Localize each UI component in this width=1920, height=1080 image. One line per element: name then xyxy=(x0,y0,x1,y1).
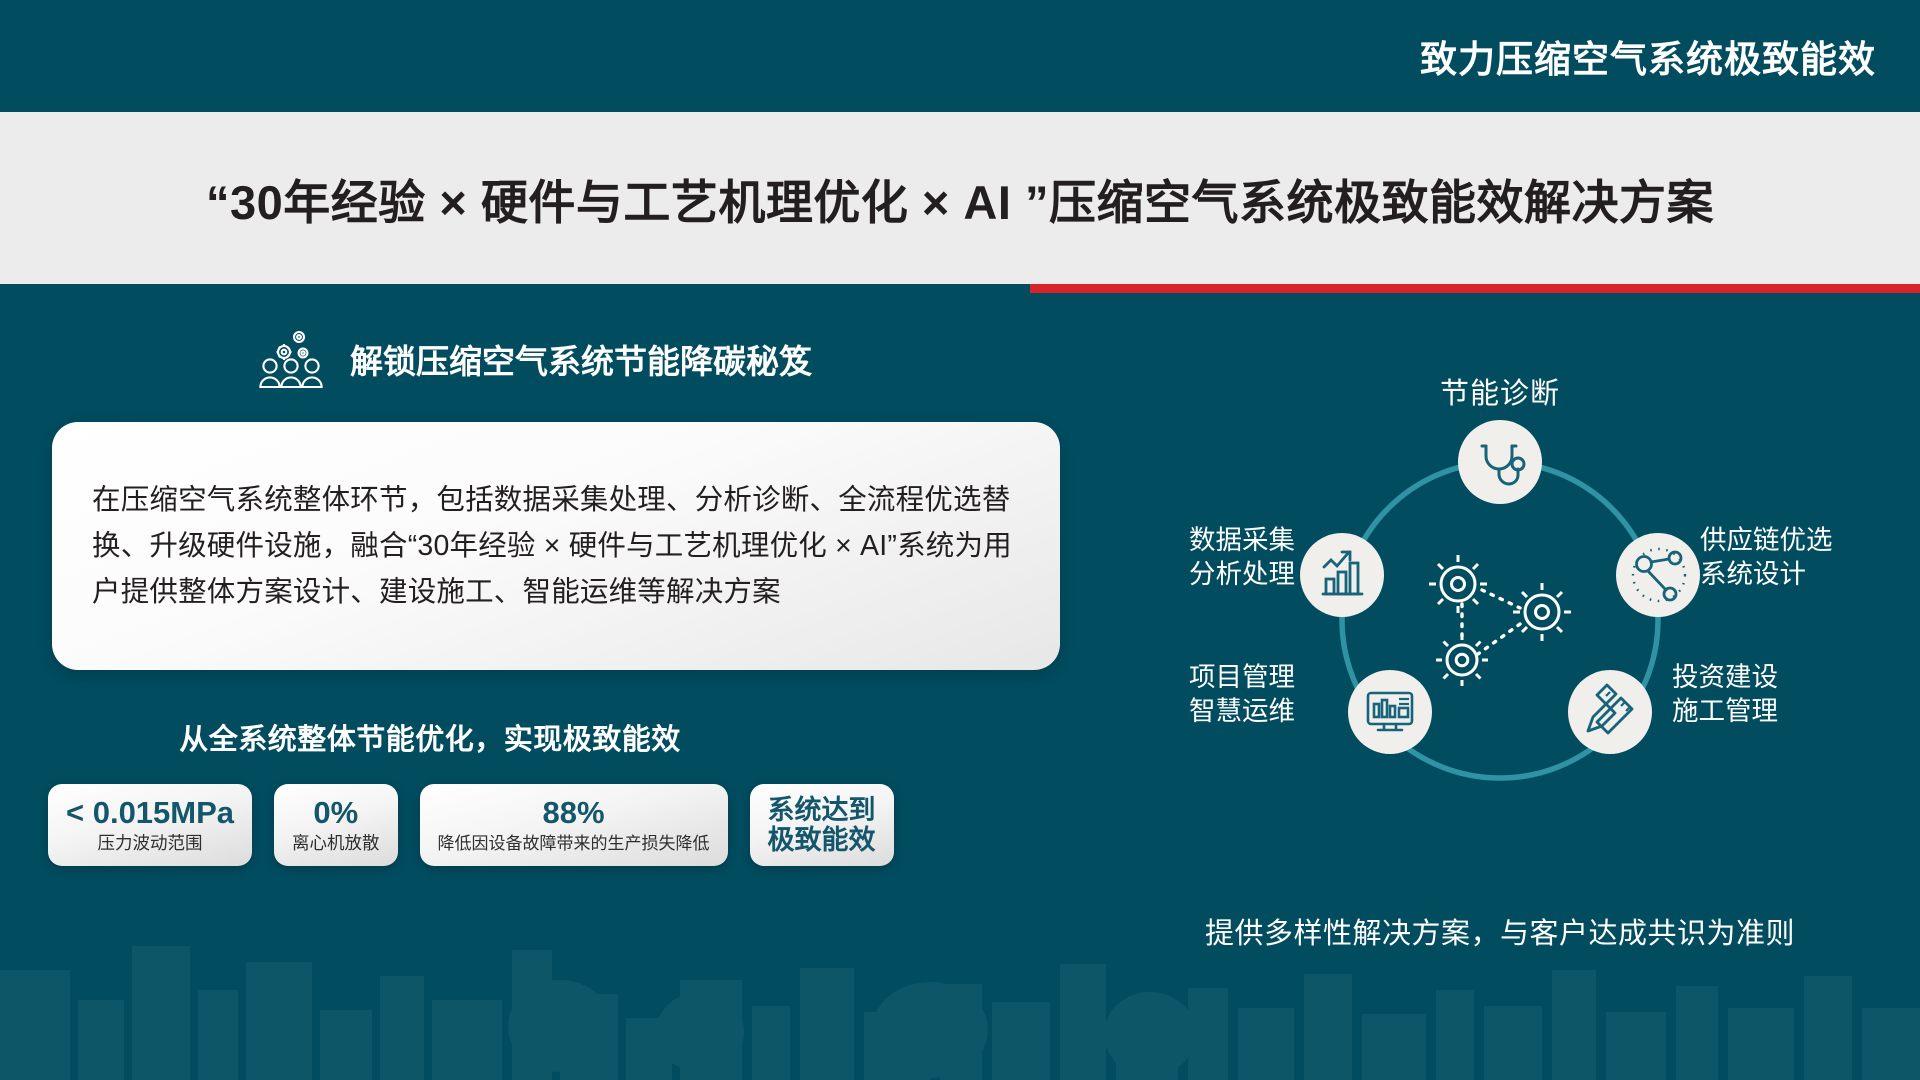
stat-box-loss-reduction: 88% 降低因设备故障带来的生产损失降低 xyxy=(420,784,728,866)
stat-box-system-goal: 系统达到 极致能效 xyxy=(750,784,894,866)
stat-value: < 0.015MPa xyxy=(66,796,234,831)
stat-value-line2: 极致能效 xyxy=(768,825,876,855)
node-label-upper-left: 数据采集 分析处理 xyxy=(1080,523,1295,592)
header-slogan: 致力压缩空气系统极致能效 xyxy=(1420,29,1876,83)
node-label-line1: 投资建设 xyxy=(1672,660,1778,694)
header-bar: 致力压缩空气系统极致能效 xyxy=(0,0,1920,112)
cycle-node-lower-left xyxy=(1348,670,1432,754)
section-heading: 从全系统整体节能优化，实现极致能效 xyxy=(0,716,860,758)
node-label-line2: 智慧运维 xyxy=(1080,694,1295,728)
info-card: 在压缩空气系统整体环节，包括数据采集处理、分析诊断、全流程优选替换、升级硬件设施… xyxy=(52,422,1060,670)
node-label-line1: 项目管理 xyxy=(1080,660,1295,694)
node-label-lower-left: 项目管理 智慧运维 xyxy=(1080,660,1295,729)
stat-value: 0% xyxy=(313,796,358,831)
gears-network-icon xyxy=(1429,555,1571,686)
info-card-paragraph: 在压缩空气系统整体环节，包括数据采集处理、分析诊断、全流程优选替换、升级硬件设施… xyxy=(92,477,1016,615)
stat-label: 降低因设备故障带来的生产损失降低 xyxy=(438,834,710,854)
cycle-node-top xyxy=(1458,420,1542,504)
node-label-line2: 施工管理 xyxy=(1672,694,1778,728)
left-column: 解锁压缩空气系统节能降碳秘笈 在压缩空气系统整体环节，包括数据采集处理、分析诊断… xyxy=(0,330,1080,1030)
cycle-title: 节能诊断 xyxy=(1080,370,1920,412)
stat-value-line1: 系统达到 xyxy=(768,795,876,825)
page-title: “30年经验 × 硬件与工艺机理优化 × AI ”压缩空气系统极致能效解决方案 xyxy=(206,164,1714,233)
left-subheading-text: 解锁压缩空气系统节能降碳秘笈 xyxy=(350,335,812,383)
people-gears-icon xyxy=(258,330,336,388)
cycle-node-upper-right xyxy=(1616,533,1700,617)
stat-box-blowoff: 0% 离心机放散 xyxy=(274,784,398,866)
node-label-line1: 数据采集 xyxy=(1080,523,1295,557)
stat-box-pressure: < 0.015MPa 压力波动范围 xyxy=(48,784,252,866)
stat-value: 88% xyxy=(543,796,605,831)
right-tagline: 提供多样性解决方案，与客户达成共识为准则 xyxy=(1080,910,1920,952)
node-label-line1: 供应链优选 xyxy=(1700,523,1833,557)
node-label-line2: 分析处理 xyxy=(1080,557,1295,591)
left-subheading-row: 解锁压缩空气系统节能降碳秘笈 xyxy=(258,330,1080,388)
title-band: “30年经验 × 硬件与工艺机理优化 × AI ”压缩空气系统极致能效解决方案 xyxy=(0,112,1920,284)
cycle-node-lower-right xyxy=(1568,670,1652,754)
cycle-node-upper-left xyxy=(1300,533,1384,617)
right-column: 节能诊断 xyxy=(1080,330,1920,1030)
accent-rule xyxy=(1030,284,1920,293)
node-label-line2: 系统设计 xyxy=(1700,557,1833,591)
stat-label: 离心机放散 xyxy=(292,833,380,854)
node-label-upper-right: 供应链优选 系统设计 xyxy=(1700,523,1833,592)
cycle-diagram xyxy=(1110,412,1890,832)
stat-label: 压力波动范围 xyxy=(98,833,203,854)
stats-row: < 0.015MPa 压力波动范围 0% 离心机放散 88% 降低因设备故障带来… xyxy=(48,784,1080,866)
node-label-lower-right: 投资建设 施工管理 xyxy=(1672,660,1778,729)
